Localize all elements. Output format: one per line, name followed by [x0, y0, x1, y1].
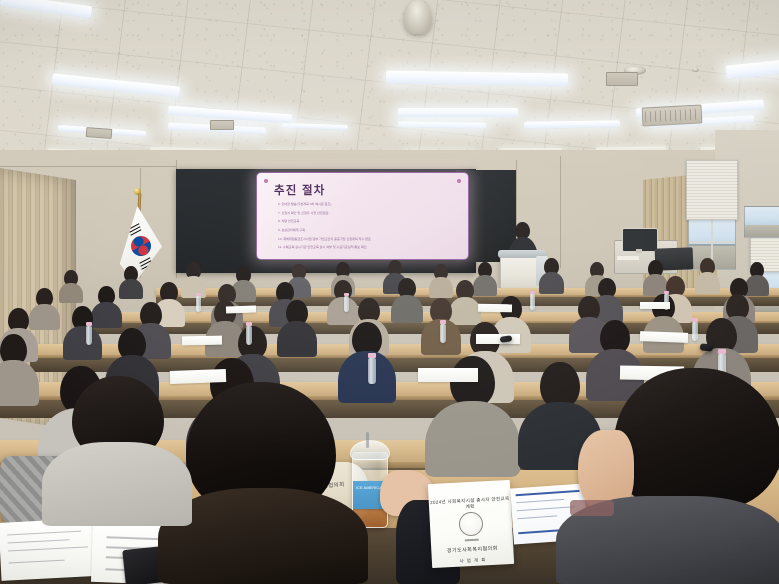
desk-paper [476, 334, 520, 344]
smartphone[interactable] [700, 343, 714, 351]
projection-screen: 추진 절차 6. 안내장 발송(기본계획 3차 예시문 참조) 7. 신청서 확… [256, 172, 469, 260]
korean-flag [108, 188, 178, 292]
ceiling [0, 0, 779, 175]
slide-bullet: 11. 수혜교육 실시기관 안전교육 실시 여부 및 수료기준실적 통보 확인 [278, 246, 460, 249]
desk-paper [418, 368, 478, 382]
torso [42, 442, 192, 526]
head [614, 368, 779, 510]
water-bottle [368, 358, 376, 384]
ceiling-vent-icon [210, 120, 234, 130]
slide-corner-dot-icon [264, 179, 268, 183]
lecture-hall-photo: 추진 절차 6. 안내장 발송(기본계획 3차 예시문 참조) 7. 신청서 확… [0, 0, 779, 584]
slide-bullet: 7. 신청서 확인 및 신청자 사전 안전점검 [278, 212, 460, 215]
ceiling-vent-icon [86, 127, 113, 139]
ceiling-ac-unit [642, 104, 703, 126]
slide-bullet-list: 6. 안내장 발송(기본계획 3차 예시문 참조) 7. 신청서 확인 및 신청… [278, 203, 460, 255]
ceiling-speaker-icon [404, 0, 432, 34]
foreground-attendee-right [556, 368, 779, 584]
slide-title: 추진 절차 [274, 186, 326, 198]
wall-seam [560, 156, 561, 268]
report-booklet[interactable]: 2024년 사회복지시설 종사자 안전교육 계획 경기도사회복지협의회 사 업 … [428, 480, 514, 568]
booklet-title: 2024년 사회복지시설 종사자 안전교육 계획 [429, 496, 512, 512]
cart-shelf-item [617, 256, 639, 260]
window-ground [745, 225, 779, 237]
desk-paper [640, 331, 688, 343]
smoke-detector-icon [692, 68, 699, 72]
water-bottle [86, 326, 92, 345]
water-bottle [196, 296, 201, 312]
desk-paper [226, 305, 256, 313]
water-bottle [692, 322, 698, 341]
slide-bullet: 10. 재해위험등급조사사업 정부 가입교안자 중증가입 신청계획 착수 완료 [278, 238, 460, 241]
water-bottle [246, 326, 252, 345]
window [744, 206, 779, 238]
water-bottle [344, 296, 349, 312]
official-seal-icon [458, 511, 483, 536]
desk-paper [478, 304, 512, 313]
booklet-rule [465, 539, 479, 541]
slide-bullet: 6. 안내장 발송(기본계획 3차 예시문 참조) [278, 203, 460, 206]
water-bottle [440, 324, 446, 343]
collar-trim [570, 500, 614, 516]
water-bottle [530, 294, 535, 310]
slide-corner-dot-icon [457, 179, 461, 183]
wall-seam [0, 166, 176, 167]
monitor-stand [636, 249, 642, 253]
window-blind[interactable] [686, 160, 738, 220]
desk-paper [182, 336, 222, 346]
desk-paper [640, 302, 670, 309]
foreground-attendee-left [42, 376, 192, 526]
taeguk-symbol-icon [127, 232, 154, 259]
booklet-footer: 경기도사회복지협의회 [431, 544, 513, 556]
slide-bullet: 8. 차량 안전교육 [278, 220, 460, 223]
ceiling-light [398, 108, 518, 117]
slide-bullet: 9. 보상관리체계 구축 [278, 229, 460, 232]
ceiling-vent-icon [606, 72, 638, 86]
